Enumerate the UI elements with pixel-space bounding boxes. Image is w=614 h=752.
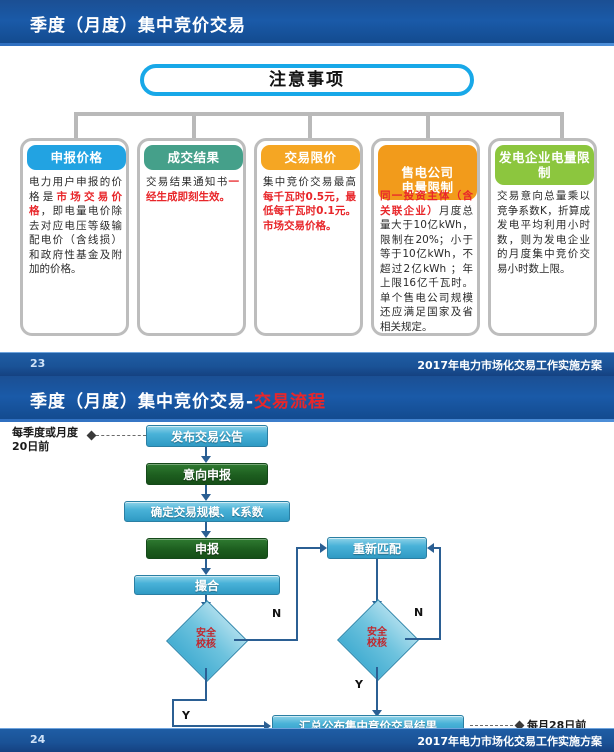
notice-card-3: 交易限价 集中竞价交易最高每千瓦时0.5元，最低每千瓦时0.1元。市场交易价格。 [254, 138, 363, 336]
slide2-title-accent: 交易流程 [254, 392, 326, 412]
conn-check2-n-h1 [405, 638, 441, 640]
notice-card-2-header: 成交结果 [144, 145, 243, 170]
slide2-footer-note: 2017年电力市场化交易工作实施方案 [417, 733, 602, 749]
bracket-horizontal-bar [74, 112, 564, 116]
conn-rematch-check2 [376, 559, 378, 603]
notice-card-2-header-label: 成交结果 [167, 150, 219, 165]
flow-node-intent[interactable]: 意向申报 [146, 463, 268, 485]
conn-check1-y-v1 [205, 668, 207, 701]
notice-card-2-body: 交易结果通知书一经生成即刻生效。 [146, 175, 239, 204]
notice-card-5-header-label: 发电企业电量限制 [499, 150, 590, 180]
conn-check1-y-h2 [172, 725, 266, 727]
slide1-title: 季度（月度）集中竞价交易 [30, 11, 246, 36]
conn-check2-y [376, 667, 378, 714]
notice-card-3-text-b: 每千瓦时0.5元，最低每千瓦时0.1元。市场交易价格。 [263, 191, 356, 232]
conn-check1-n-h1 [234, 639, 298, 641]
slide1-footer-note: 2017年电力市场化交易工作实施方案 [417, 357, 602, 373]
branch-label-y1: Y [182, 709, 190, 722]
conn-check1-n-h2 [296, 547, 322, 549]
conn-check1-y-h1 [172, 699, 207, 701]
notice-card-3-header: 交易限价 [261, 145, 360, 170]
bracket-stem-5 [560, 112, 564, 140]
flow-note-left: 每季度或月度 20日前 [12, 426, 78, 454]
notice-card-3-body: 集中竞价交易最高每千瓦时0.5元，最低每千瓦时0.1元。市场交易价格。 [263, 175, 356, 233]
slide2-title-bar: 季度（月度）集中竞价交易-交易流程 [0, 376, 614, 422]
flow-node-declare[interactable]: 申报 [146, 538, 268, 559]
notice-pill-label: 注意事项 [144, 68, 470, 92]
slide1-page-number: 23 [30, 357, 45, 370]
branch-label-n1: N [272, 607, 281, 620]
arrow-check2-rematch [427, 543, 434, 553]
flow-node-publish[interactable]: 发布交易公告 [146, 425, 268, 447]
notice-card-1-header: 申报价格 [27, 145, 126, 170]
slide2-page-number: 24 [30, 733, 45, 746]
flow-node-check1-label: 安全 校核 [178, 628, 234, 650]
notice-card-1-text-c: ，即电量电价除去对应电压等级输配电价（含线损）和政府性基金及附加的价格。 [29, 205, 122, 275]
slide2-footer: 24 2017年电力市场化交易工作实施方案 [0, 728, 614, 752]
slide-notice: 季度（月度）集中竞价交易 注意事项 申报价格 电力用户申报的价格是市场交易价格，… [0, 0, 614, 376]
flowchart: 每季度或月度 20日前 发布交易公告 意向申报 确定交易规模、K系数 申报 撮合 [0, 422, 614, 728]
flow-note-left-dash [96, 435, 146, 436]
arrow-publish-intent [201, 456, 211, 463]
notice-card-1-header-label: 申报价格 [50, 150, 102, 165]
slide1-footer: 23 2017年电力市场化交易工作实施方案 [0, 352, 614, 376]
notice-card-2: 成交结果 交易结果通知书一经生成即刻生效。 [137, 138, 246, 336]
arrow-check1-rematch [320, 543, 327, 553]
slide2-title-main: 季度（月度）集中竞价交易- [30, 392, 254, 412]
flow-node-intent-label: 意向申报 [183, 466, 231, 483]
notice-card-5: 发电企业电量限制 交易意向总量乘以竞争系数K，折算成发电平均利用小时数，则为发电… [488, 138, 597, 336]
notice-card-2-text-a: 交易结果通知书 [146, 176, 229, 188]
conn-check2-n-v [439, 547, 441, 640]
flow-node-scale[interactable]: 确定交易规模、K系数 [124, 501, 290, 522]
flow-node-rematch-label: 重新匹配 [353, 540, 401, 557]
flow-node-check2-label: 安全 校核 [349, 627, 405, 649]
notice-card-4-text-b: 月度总量大于10亿kWh，限制在20%；小于等于10亿kWh，不超过2亿kWh … [380, 205, 473, 333]
notice-card-3-header-label: 交易限价 [284, 150, 336, 165]
bracket-connector [0, 112, 614, 140]
conn-check1-y-v2 [172, 699, 174, 727]
arrow-intent-scale [201, 494, 211, 501]
slide1-title-bar: 季度（月度）集中竞价交易 [0, 0, 614, 46]
notice-card-1-body: 电力用户申报的价格是市场交易价格，即电量电价除去对应电压等级输配电价（含线损）和… [29, 175, 122, 277]
arrow-scale-declare [201, 531, 211, 538]
slide2-title: 季度（月度）集中竞价交易-交易流程 [30, 387, 326, 412]
bracket-stem-3 [308, 112, 312, 140]
branch-label-n2: N [414, 606, 423, 619]
branch-label-y2: Y [355, 678, 363, 691]
conn-check1-n-v [296, 547, 298, 641]
flow-node-rematch[interactable]: 重新匹配 [327, 537, 427, 559]
slide-flowchart: 季度（月度）集中竞价交易-交易流程 每季度或月度 20日前 发布交易公告 意向申… [0, 376, 614, 752]
bracket-stem-2 [192, 112, 196, 140]
flow-node-publish-label: 发布交易公告 [171, 428, 243, 445]
conn-check2-n-h2 [434, 547, 441, 549]
notice-card-4-body: 同一投资主体（含关联企业）月度总量大于10亿kWh，限制在20%；小于等于10亿… [380, 189, 473, 334]
arrow-declare-match [201, 568, 211, 575]
flow-note-left-marker [87, 431, 97, 441]
flow-node-declare-label: 申报 [195, 540, 219, 557]
notice-card-5-body: 交易意向总量乘以竞争系数K，折算成发电平均利用小时数，则为发电企业的月度集中竞价… [497, 189, 590, 276]
flow-node-scale-label: 确定交易规模、K系数 [151, 504, 263, 520]
flow-node-match[interactable]: 撮合 [134, 575, 280, 595]
notice-card-4: 售电公司 电量限制 同一投资主体（含关联企业）月度总量大于10亿kWh，限制在2… [371, 138, 480, 336]
notice-card-5-text-a: 交易意向总量乘以竞争系数K，折算成发电平均利用小时数，则为发电企业的月度集中竞价… [497, 190, 590, 275]
flow-node-match-label: 撮合 [195, 577, 219, 594]
bracket-stem-1 [74, 112, 78, 140]
notice-card-1: 申报价格 电力用户申报的价格是市场交易价格，即电量电价除去对应电压等级输配电价（… [20, 138, 129, 336]
notice-card-5-header: 发电企业电量限制 [495, 145, 594, 185]
notice-pill: 注意事项 [140, 64, 474, 96]
bracket-stem-4 [426, 112, 430, 140]
notice-card-3-text-a: 集中竞价交易最高 [263, 176, 356, 188]
flow-note-right-dash [470, 725, 518, 726]
